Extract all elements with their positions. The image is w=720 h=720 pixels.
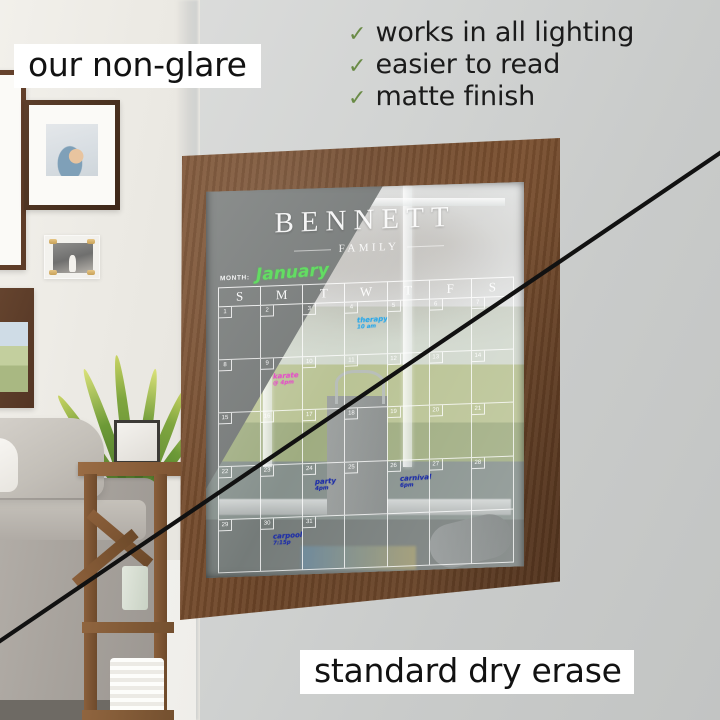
calendar-day-cell[interactable]: 24party4pm [302, 462, 344, 517]
calendar-day-cell[interactable]: 10 [302, 356, 344, 411]
handwritten-event-note[interactable]: carpool7:15p [273, 531, 300, 547]
calendar-day-cell[interactable]: 12 [387, 353, 429, 408]
calendar-day-cell[interactable]: 21 [471, 403, 514, 458]
callout-standard-dry-erase: standard dry erase [300, 650, 634, 694]
tabletop-picture-frame [114, 420, 160, 464]
calendar-day-cell[interactable]: 4therapy10 am [344, 301, 386, 356]
event-time: @ 4pm [273, 379, 299, 387]
day-number: 7 [472, 298, 485, 309]
calendar-printed-artwork: BENNETT FAMILY MONTH: January SMTWTFS 12… [206, 182, 524, 578]
feature-bullet-list: ✓works in all lighting✓easier to read✓ma… [348, 18, 634, 113]
calendar-day-cell[interactable]: 30carpool7:15p [260, 517, 302, 572]
day-number: 25 [345, 462, 358, 473]
frame-mat [0, 75, 21, 265]
divider-line [407, 245, 444, 247]
day-number: 31 [303, 517, 316, 528]
calendar-day-cell[interactable]: 9karate@ 4pm [260, 358, 302, 413]
calendar-day-cell[interactable]: 17 [302, 409, 344, 464]
day-of-week-header: T [302, 283, 344, 305]
day-number: 26 [388, 460, 401, 471]
day-number: 9 [261, 359, 274, 370]
day-number: 4 [345, 302, 358, 313]
calendar-day-cell[interactable]: 1 [218, 306, 260, 361]
day-number: 15 [219, 413, 232, 424]
day-number: 18 [345, 409, 358, 420]
day-number: 23 [261, 465, 274, 476]
frame-stud-icon [87, 270, 95, 275]
calendar-day-cell[interactable] [387, 512, 429, 567]
calendar-day-cell[interactable]: 29 [218, 519, 260, 574]
acrylic-frame-wedding-photo [44, 235, 100, 279]
handwritten-event-note[interactable]: therapy10 am [357, 315, 384, 331]
calendar-day-cell[interactable]: 5 [387, 300, 429, 355]
calendar-weeks: 1234therapy10 am56789karate@ 4pm10111213… [218, 297, 514, 574]
handwritten-event-note[interactable]: carnival6pm [399, 473, 426, 489]
decor-candle [122, 566, 148, 610]
day-number: 16 [261, 412, 274, 423]
day-number: 12 [388, 354, 401, 365]
picture-frame-baby-photo [24, 100, 120, 210]
calendar-day-cell[interactable]: 8 [218, 359, 260, 414]
handwritten-event-note[interactable]: karate@ 4pm [273, 371, 300, 387]
handwritten-event-note[interactable]: party4pm [315, 476, 342, 492]
framed-dry-erase-calendar[interactable]: BENNETT FAMILY MONTH: January SMTWTFS 12… [168, 138, 560, 620]
day-number: 13 [430, 352, 443, 363]
calendar-day-cell[interactable]: 18 [344, 408, 386, 463]
event-time: 4pm [315, 484, 341, 492]
callout-standard-text: standard dry erase [314, 654, 622, 687]
day-number: 6 [430, 299, 443, 310]
event-time: 6pm [400, 481, 426, 489]
day-number: 28 [472, 457, 485, 468]
frame-stud-icon [49, 270, 57, 275]
event-time: 10 am [357, 323, 383, 331]
day-number: 21 [472, 404, 485, 415]
feature-bullet-text: matte finish [375, 82, 535, 113]
calendar-day-cell[interactable]: 6 [429, 298, 471, 353]
calendar-day-cell[interactable]: 23 [260, 464, 302, 519]
day-number: 5 [388, 301, 401, 312]
day-number: 3 [303, 304, 316, 315]
day-number: 8 [219, 360, 232, 371]
calendar-week-row: 2930carpool7:15p31 [218, 509, 514, 573]
frame-stud-icon [49, 239, 57, 244]
calendar-day-cell[interactable]: 16 [260, 411, 302, 466]
day-number: 2 [261, 305, 274, 316]
table-shelf-board [82, 622, 174, 633]
day-number: 29 [219, 520, 232, 531]
calendar-day-cell[interactable]: 31 [302, 516, 344, 571]
month-field[interactable]: MONTH: January [220, 263, 329, 284]
calendar-day-cell[interactable]: 20 [429, 405, 471, 460]
calendar-day-cell[interactable]: 28 [471, 456, 514, 511]
day-of-week-header: W [344, 281, 386, 303]
picture-frame-partial [0, 70, 26, 270]
check-icon: ✓ [348, 87, 366, 109]
calendar-day-cell[interactable]: 3 [302, 303, 344, 358]
family-name-title: BENNETT [206, 198, 524, 243]
check-icon: ✓ [348, 55, 366, 77]
day-of-week-header: M [260, 284, 302, 306]
calendar-day-cell[interactable]: 19 [387, 406, 429, 461]
day-number: 11 [345, 355, 358, 366]
wedding-photo-image [53, 243, 93, 273]
calendar-day-cell[interactable]: 13 [429, 351, 471, 406]
calendar-day-cell[interactable]: 25 [344, 461, 386, 516]
month-field-label: MONTH: [220, 274, 250, 284]
feature-bullet: ✓works in all lighting [348, 18, 634, 49]
calendar-day-cell[interactable]: 2 [260, 304, 302, 359]
day-number: 17 [303, 410, 316, 421]
landscape-art-image [0, 322, 28, 392]
divider-line [294, 249, 331, 251]
day-of-week-header: S [471, 277, 514, 299]
day-number: 19 [388, 407, 401, 418]
day-of-week-header: T [387, 280, 429, 302]
callout-non-glare-text: our non-glare [28, 48, 247, 81]
feature-bullet: ✓matte finish [348, 82, 634, 113]
product-comparison-photo: BENNETT FAMILY MONTH: January SMTWTFS 12… [0, 0, 720, 720]
calendar-board-surface[interactable]: BENNETT FAMILY MONTH: January SMTWTFS 12… [206, 182, 524, 578]
calendar-day-cell[interactable] [344, 514, 386, 569]
family-subtitle-row: FAMILY [294, 239, 444, 257]
callout-non-glare: our non-glare [14, 44, 261, 88]
table-shelf-board [82, 710, 174, 720]
day-number: 14 [472, 351, 485, 362]
calendar-day-cell[interactable]: 11 [344, 354, 386, 409]
calendar-day-cell[interactable]: 26carnival6pm [387, 459, 429, 514]
picture-frame-landscape-art [0, 288, 34, 408]
day-number: 10 [303, 357, 316, 368]
day-of-week-header: F [429, 278, 471, 300]
calendar-day-cell[interactable]: 7 [471, 297, 514, 352]
day-number: 24 [303, 463, 316, 474]
table-x-brace [90, 508, 162, 510]
check-icon: ✓ [348, 23, 366, 45]
day-of-week-header: S [218, 286, 260, 308]
day-number: 27 [430, 459, 443, 470]
calendar-day-cell[interactable]: 15 [218, 412, 260, 467]
day-number: 22 [219, 466, 232, 477]
calendar-day-cell[interactable] [429, 511, 471, 566]
frame-stud-icon [87, 239, 95, 244]
family-subtitle: FAMILY [339, 241, 400, 255]
month-handwritten-value[interactable]: January [255, 262, 329, 284]
day-number: 20 [430, 406, 443, 417]
day-number: 30 [261, 518, 274, 529]
baby-photo-image [46, 124, 98, 176]
day-number: 1 [219, 307, 232, 318]
feature-bullet-text: works in all lighting [375, 18, 634, 49]
feature-bullet: ✓easier to read [348, 50, 634, 81]
calendar-day-cell[interactable]: 27 [429, 458, 471, 513]
calendar-day-cell[interactable]: 14 [471, 350, 514, 405]
feature-bullet-text: easier to read [375, 50, 560, 81]
calendar-day-cell[interactable]: 22 [218, 465, 260, 520]
calendar-grid[interactable]: SMTWTFS 1234therapy10 am56789karate@ 4pm… [218, 277, 514, 574]
event-time: 7:15p [273, 539, 299, 547]
calendar-day-cell[interactable] [471, 509, 514, 564]
